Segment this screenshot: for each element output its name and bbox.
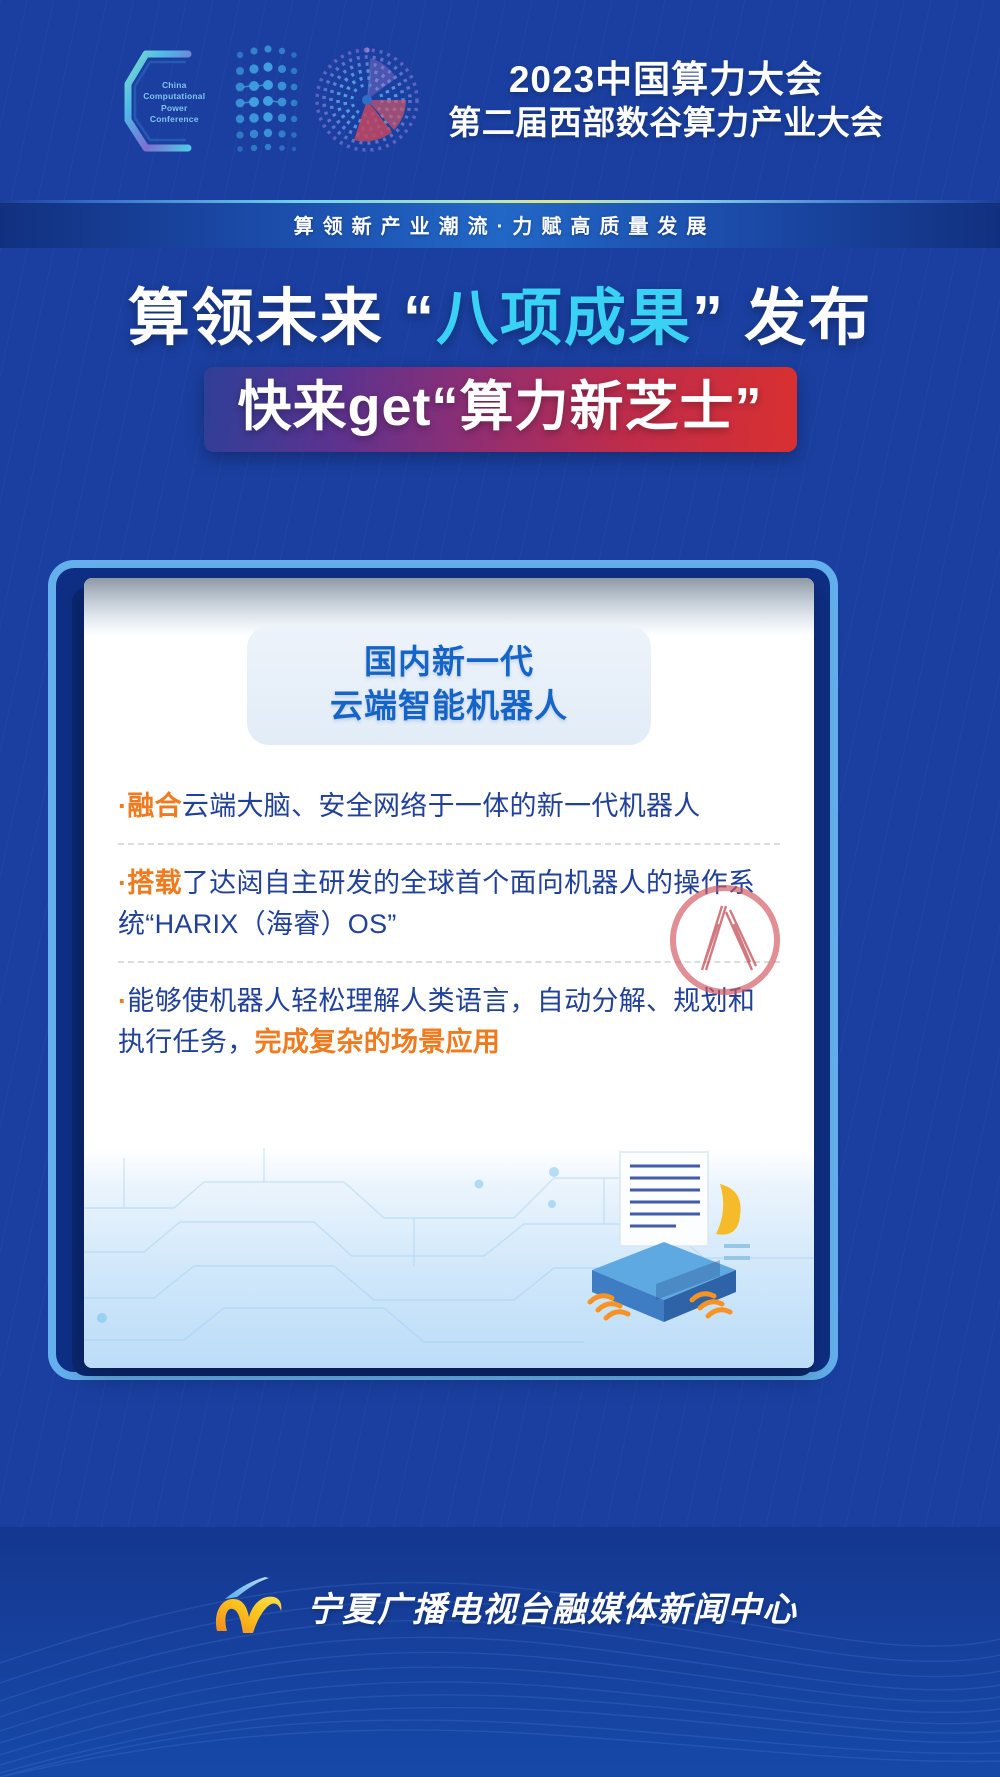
bullet-text: ·融合云端大脑、安全网络于一体的新一代机器人 bbox=[118, 786, 780, 827]
isometric-server-document-icon bbox=[524, 1150, 754, 1360]
ningxia-n-swoosh-logo bbox=[203, 1575, 293, 1637]
wave-pattern bbox=[0, 1527, 1000, 1777]
list-item: ·融合云端大脑、安全网络于一体的新一代机器人 bbox=[118, 768, 780, 843]
headline-highlight: 八项成果 bbox=[436, 284, 692, 353]
list-item: ·能够使机器人轻松理解人类语言，自动分解、规划和执行任务，完成复杂的场景应用 bbox=[118, 961, 780, 1079]
bullet-text: ·搭载了达闼自主研发的全球首个面向机器人的操作系统“HARIX（海睿）OS” bbox=[118, 863, 780, 945]
ribbon-wrap: 快来get“算力新芝士” bbox=[0, 367, 1000, 452]
bullet-marker: · bbox=[118, 986, 127, 1016]
bullet-tail: 完成复杂的场景应用 bbox=[255, 1027, 501, 1057]
dot-matrix-icon bbox=[232, 41, 302, 159]
headline-prefix: 算领未来 bbox=[128, 284, 384, 353]
headline-quote-open: “ bbox=[403, 284, 436, 353]
headline-quote-close: ” bbox=[692, 284, 725, 353]
headline-area: 算领未来 “八项成果” 发布 快来get“算力新芝士” bbox=[0, 285, 1000, 452]
bullet-body: 云端大脑、安全网络于一体的新一代机器人 bbox=[182, 791, 701, 821]
china-computational-power-conference-logo: China Computational Power Conference bbox=[116, 40, 226, 160]
bullet-marker: · bbox=[118, 791, 127, 821]
footer-brand-text: 宁夏广播电视台融媒体新闻中心 bbox=[307, 1582, 797, 1631]
logo-text-line-4: Conference bbox=[138, 114, 210, 125]
bullet-text: ·能够使机器人轻松理解人类语言，自动分解、规划和执行任务，完成复杂的场景应用 bbox=[118, 981, 780, 1063]
bullet-lead: 搭载 bbox=[127, 868, 182, 898]
card-title-pill: 国内新一代 云端智能机器人 bbox=[247, 626, 651, 745]
logo-text-line-2: Computational bbox=[138, 91, 210, 102]
headline: 算领未来 “八项成果” 发布 bbox=[0, 285, 1000, 353]
ribbon-text: 快来get“算力新芝士” bbox=[238, 379, 763, 436]
card-title-line-2: 云端智能机器人 bbox=[247, 684, 651, 728]
achievement-card: 国内新一代 云端智能机器人 ·融合云端大脑、安全网络于一体的新一代机器人 ·搭载… bbox=[84, 578, 814, 1368]
card-title-line-1: 国内新一代 bbox=[247, 640, 651, 684]
subtitle-ribbon: 快来get“算力新芝士” bbox=[204, 367, 797, 452]
card-illustration-area bbox=[84, 1148, 814, 1368]
bullet-marker: · bbox=[118, 868, 127, 898]
list-item: ·搭载了达闼自主研发的全球首个面向机器人的操作系统“HARIX（海睿）OS” bbox=[118, 843, 780, 961]
conference-title: 2023中国算力大会 第二届西部数谷算力产业大会 bbox=[448, 57, 884, 143]
footer-brand: 宁夏广播电视台融媒体新闻中心 bbox=[0, 1575, 1000, 1637]
conference-logos: China Computational Power Conference bbox=[116, 40, 426, 160]
slogan-text: 算领新产业潮流·力赋高质量发展 bbox=[285, 210, 716, 239]
conference-title-line-2: 第二届西部数谷算力产业大会 bbox=[448, 102, 884, 143]
headline-suffix: 发布 bbox=[744, 284, 872, 353]
conference-title-line-1: 2023中国算力大会 bbox=[448, 57, 884, 102]
bullet-lead: 融合 bbox=[127, 791, 182, 821]
bullet-list: ·融合云端大脑、安全网络于一体的新一代机器人 ·搭载了达闼自主研发的全球首个面向… bbox=[84, 768, 814, 1079]
logo-text: China Computational Power Conference bbox=[138, 80, 210, 126]
bullet-body: 了达闼自主研发的全球首个面向机器人的操作系统“HARIX（海睿）OS” bbox=[118, 868, 755, 939]
radial-fan-icon bbox=[308, 40, 426, 160]
poster-header: China Computational Power Conference bbox=[0, 0, 1000, 200]
poster-footer: 宁夏广播电视台融媒体新闻中心 bbox=[0, 1527, 1000, 1777]
logo-text-line-3: Power bbox=[138, 103, 210, 114]
logo-text-line-1: China bbox=[138, 80, 210, 91]
slogan-bar: 算领新产业潮流·力赋高质量发展 bbox=[0, 200, 1000, 248]
